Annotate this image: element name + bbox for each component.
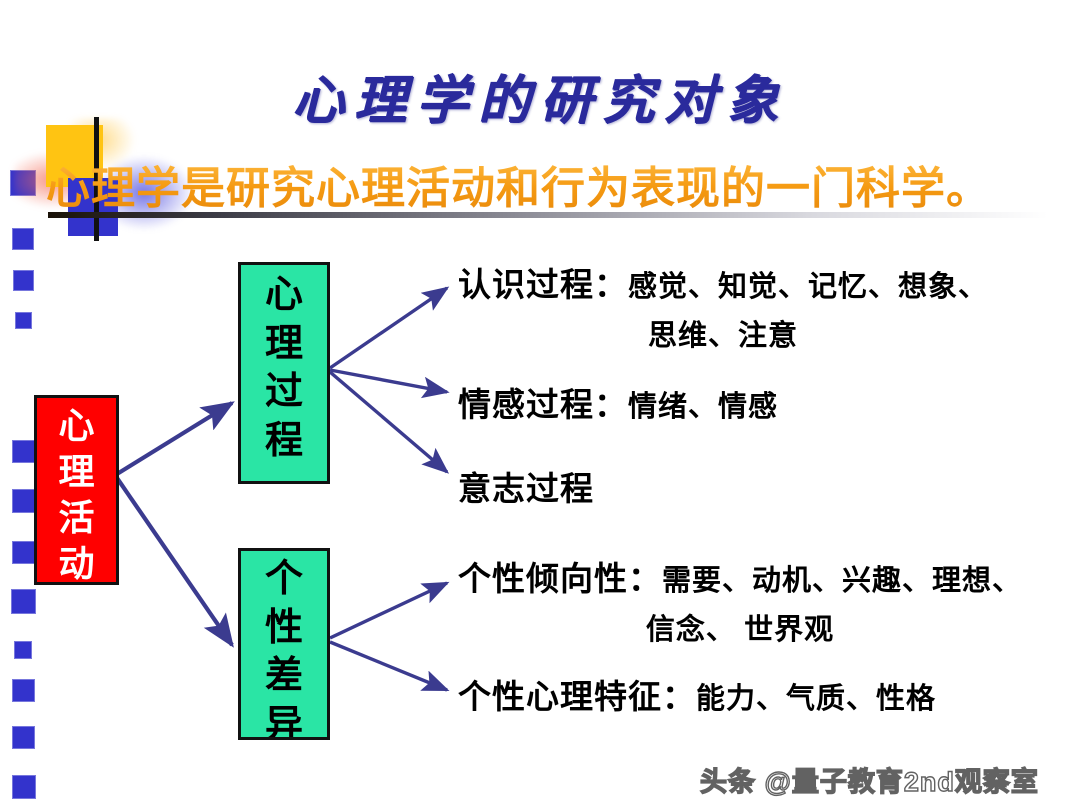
detail-label: 个性心理特征： xyxy=(458,680,696,716)
slide-canvas: 心理学的研究对象 心理学是研究心理活动和行为表现的一门科学。 心 理 活 动 心… xyxy=(0,0,1080,810)
node-char: 理 xyxy=(241,320,327,369)
node-char: 程 xyxy=(241,417,327,466)
decor-bullet xyxy=(12,440,35,463)
detail-label: 个性倾向性： xyxy=(458,562,662,598)
decor-bullet xyxy=(14,641,32,659)
detail-value: 需要、动机、兴趣、理想、 xyxy=(662,565,1022,597)
detail-tendency: 个性倾向性：需要、动机、兴趣、理想、 信念、 世界观 xyxy=(458,552,1022,648)
decor-bullet xyxy=(12,775,36,799)
detail-value: 能力、气质、性格 xyxy=(696,683,936,715)
node-char: 理 xyxy=(37,449,116,495)
node-char: 差 xyxy=(241,652,327,701)
decor-bullet xyxy=(12,541,35,564)
decor-bullet xyxy=(12,726,35,749)
detail-value: 情绪、情感 xyxy=(628,391,778,423)
detail-label: 意志过程 xyxy=(458,472,594,508)
detail-will: 意志过程 xyxy=(458,462,594,510)
detail-value-line2: 思维、注意 xyxy=(458,312,988,354)
detail-traits: 个性心理特征：能力、气质、性格 xyxy=(458,670,936,718)
page-title: 心理学的研究对象 xyxy=(0,58,1080,133)
node-psychological-activity[interactable]: 心 理 活 动 xyxy=(34,395,119,585)
detail-label: 认识过程： xyxy=(458,268,628,304)
detail-cognition: 认识过程：感觉、知觉、记忆、想象、 思维、注意 xyxy=(458,258,988,354)
node-psychological-process[interactable]: 心 理 过 程 xyxy=(238,262,330,484)
decor-bullet xyxy=(12,679,35,702)
detail-emotion: 情感过程：情绪、情感 xyxy=(458,378,778,426)
node-char: 活 xyxy=(37,495,116,541)
node-char: 个 xyxy=(241,555,327,604)
detail-label: 情感过程： xyxy=(458,388,628,424)
detail-value: 感觉、知觉、记忆、想象、 xyxy=(628,271,988,303)
node-char: 异 xyxy=(241,701,327,740)
decor-bullet xyxy=(13,270,34,291)
detail-value-line2: 信念、 世界观 xyxy=(458,606,1022,648)
node-char: 心 xyxy=(37,403,116,449)
node-char: 过 xyxy=(241,368,327,417)
decor-bullet xyxy=(11,589,36,614)
decor-bullet xyxy=(15,312,32,329)
node-char: 性 xyxy=(241,604,327,653)
page-subtitle: 心理学是研究心理活动和行为表现的一门科学。 xyxy=(46,152,1056,216)
watermark: 头条 @量子教育2nd观察室 xyxy=(700,760,1039,799)
node-char: 心 xyxy=(241,271,327,320)
decor-bullet xyxy=(12,489,36,513)
node-individual-difference[interactable]: 个 性 差 异 xyxy=(238,548,330,740)
node-char: 动 xyxy=(37,541,116,587)
